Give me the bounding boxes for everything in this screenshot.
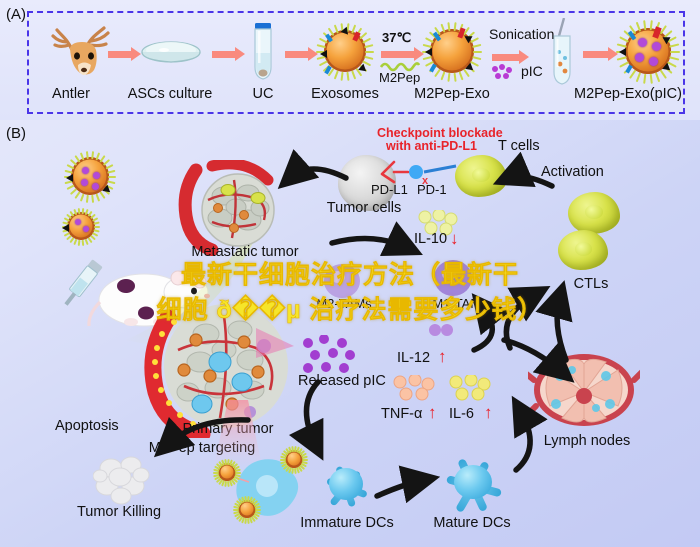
il12-arrow: ↑ bbox=[438, 347, 447, 367]
exosome-spike bbox=[334, 70, 339, 79]
exosome-spike bbox=[74, 155, 80, 163]
checkpoint-blockade-label-line2: with anti-PD-L1 bbox=[386, 139, 477, 153]
watermark-overlay: 最新干细胞治疗方法（最新干 细胞 ð��µ 治疗法需要多少钱） bbox=[0, 258, 700, 328]
watermark-line-1: 最新干细胞治疗方法（最新干 bbox=[0, 258, 700, 293]
il12-label: IL-12 bbox=[397, 350, 430, 366]
exosome-spike bbox=[346, 72, 349, 81]
exosome-spike bbox=[78, 240, 81, 246]
exosome-spike bbox=[447, 22, 450, 31]
exosome-spike bbox=[86, 195, 89, 203]
exosome-spike bbox=[94, 226, 100, 228]
exosome-spike bbox=[95, 193, 100, 201]
watermark-line-2: 细胞 ð��µ 治疗法需要多少钱） bbox=[0, 293, 700, 328]
exosome-spike bbox=[364, 44, 373, 48]
exosome-spike bbox=[91, 151, 94, 159]
sonication-label: Sonication bbox=[489, 26, 554, 42]
exosome-spike bbox=[67, 164, 75, 169]
pd-l1-label: PD-L1 bbox=[371, 182, 408, 197]
exosome-spike bbox=[472, 56, 481, 60]
exosome-spike bbox=[107, 180, 115, 184]
arrow-culture-to-uc bbox=[212, 51, 236, 58]
exosome-spike bbox=[643, 74, 646, 84]
t-cells-label: T cells bbox=[498, 138, 540, 154]
m2pep-exosome-pic-illustration bbox=[614, 17, 682, 85]
stage-caption-m2pep-exo-pic: M2Pep-Exo(pIC) bbox=[574, 86, 682, 102]
exosome-spike bbox=[82, 240, 85, 246]
tnfa-arrow: ↑ bbox=[428, 403, 437, 423]
arrow-sonication-to-product bbox=[583, 51, 609, 58]
exosome-spike bbox=[670, 51, 680, 53]
exosome-spike bbox=[434, 69, 441, 78]
exosome-spike bbox=[629, 70, 636, 79]
petri-dish-illustration bbox=[140, 38, 202, 68]
m2pep-label: M2Pep bbox=[379, 70, 420, 85]
t-cell-right-upper bbox=[568, 192, 620, 234]
exosome-spike bbox=[108, 176, 116, 178]
exosome-spike bbox=[78, 208, 81, 214]
released-pic-label: Released pIC bbox=[298, 373, 386, 389]
exosome-spike bbox=[422, 56, 431, 60]
pic-label: pIC bbox=[521, 63, 543, 79]
mature-dcs-label: Mature DCs bbox=[433, 515, 510, 531]
exosome-spike bbox=[93, 221, 99, 224]
exosome-spike bbox=[107, 170, 115, 174]
exosome-spike bbox=[655, 72, 660, 82]
immature-dc-illustration bbox=[311, 452, 381, 516]
mature-dc-illustration bbox=[432, 446, 514, 518]
exosome-spike bbox=[643, 20, 646, 30]
apoptotic-tumor-cell-illustration bbox=[93, 452, 151, 508]
tumor-cells-label: Tumor cells bbox=[327, 200, 401, 216]
temperature-label: 37℃ bbox=[382, 30, 411, 46]
targeting-exosome-2 bbox=[218, 463, 236, 481]
exosome-illustration bbox=[316, 22, 374, 80]
exosome-spike bbox=[617, 56, 627, 60]
il6-cytokine-cluster bbox=[448, 375, 492, 401]
exosome-spike bbox=[447, 73, 450, 82]
arrow-antler-to-culture bbox=[108, 51, 132, 58]
stage-caption-uc: UC bbox=[253, 86, 274, 102]
exosome-spike bbox=[636, 72, 641, 82]
free-exosome-small bbox=[60, 205, 102, 247]
checkpoint-blockade-label: Checkpoint blockade bbox=[377, 126, 503, 140]
figure-root: (A) Antler bbox=[0, 0, 700, 547]
exosome-spike bbox=[362, 38, 371, 44]
exosome-spike bbox=[86, 151, 89, 159]
released-pic-cluster bbox=[300, 335, 358, 375]
arrow-uc-to-exosomes bbox=[285, 51, 309, 58]
sonicator-tube-illustration bbox=[548, 18, 576, 86]
exosome-spike bbox=[280, 459, 286, 461]
metastatic-tumor-illustration bbox=[176, 160, 292, 256]
exosome-spike bbox=[341, 72, 344, 81]
panel-b-label: (B) bbox=[6, 125, 26, 142]
tnfa-cytokine-cluster bbox=[392, 375, 436, 401]
exosome-spike bbox=[73, 239, 77, 245]
centrifuge-tube-illustration bbox=[250, 23, 276, 81]
apoptosis-label: Apoptosis bbox=[55, 418, 119, 434]
exosome-spike bbox=[334, 25, 339, 34]
exosome-spike bbox=[213, 472, 219, 474]
exosome-spike bbox=[80, 152, 85, 160]
exosome-spike bbox=[669, 43, 679, 47]
m2pep-exosome-illustration bbox=[419, 18, 485, 84]
exosome-spike bbox=[636, 22, 641, 32]
exosome-spike bbox=[440, 71, 445, 80]
exosome-spike bbox=[351, 70, 356, 79]
exosome-spike bbox=[473, 51, 482, 53]
exosome-spike bbox=[620, 36, 629, 42]
stage-caption-m2pep-exo: M2Pep-Exo bbox=[414, 86, 490, 102]
targeting-exosome-3 bbox=[238, 500, 256, 518]
exosome-spike bbox=[80, 193, 85, 201]
il10-arrow: ↓ bbox=[450, 229, 459, 249]
exosome-spike bbox=[317, 44, 326, 48]
immature-dcs-label: Immature DCs bbox=[300, 515, 393, 531]
tumor-killing-label: Tumor Killing bbox=[77, 504, 161, 520]
antler-illustration bbox=[50, 20, 116, 82]
exosome-spike bbox=[364, 56, 373, 60]
lymph-node-illustration bbox=[528, 352, 640, 432]
exosome-spike bbox=[650, 20, 653, 30]
stage-caption-exosomes: Exosomes bbox=[311, 86, 379, 102]
exosome-spike bbox=[459, 71, 464, 80]
arrow-exosome-to-m2pep-exo bbox=[381, 51, 415, 58]
panel-a: (A) Antler bbox=[0, 0, 700, 120]
exosome-spike bbox=[440, 23, 445, 32]
free-exosome-large bbox=[62, 148, 118, 204]
il6-arrow: ↑ bbox=[484, 403, 493, 423]
exosome-spike bbox=[233, 509, 239, 511]
lymph-nodes-label: Lymph nodes bbox=[544, 433, 631, 449]
exosome-spike bbox=[365, 51, 374, 53]
exosome-spike bbox=[650, 74, 653, 84]
tnfa-label: TNF-α bbox=[381, 406, 422, 422]
exosome-spike bbox=[91, 195, 94, 203]
targeting-exosome-1 bbox=[285, 450, 303, 468]
arrow-m2pep-exo-to-sonication bbox=[492, 54, 520, 61]
stage-caption-asc-culture: ASCs culture bbox=[128, 86, 213, 102]
exosome-spike bbox=[425, 37, 434, 43]
exosome-spike bbox=[472, 44, 481, 48]
exosome-spike bbox=[454, 73, 457, 82]
pic-cluster-icon bbox=[491, 64, 517, 80]
panel-a-label: (A) bbox=[6, 6, 26, 23]
stage-caption-antler: Antler bbox=[52, 86, 90, 102]
il10-label: IL-10 bbox=[414, 231, 447, 247]
exosome-spike bbox=[105, 164, 113, 169]
exosome-spike bbox=[454, 22, 457, 31]
il6-label: IL-6 bbox=[449, 406, 474, 422]
pd-1-label: PD-1 bbox=[417, 182, 447, 197]
exosome-spike bbox=[669, 56, 679, 60]
activation-label: Activation bbox=[541, 164, 604, 180]
t-cell-bound bbox=[455, 155, 507, 197]
